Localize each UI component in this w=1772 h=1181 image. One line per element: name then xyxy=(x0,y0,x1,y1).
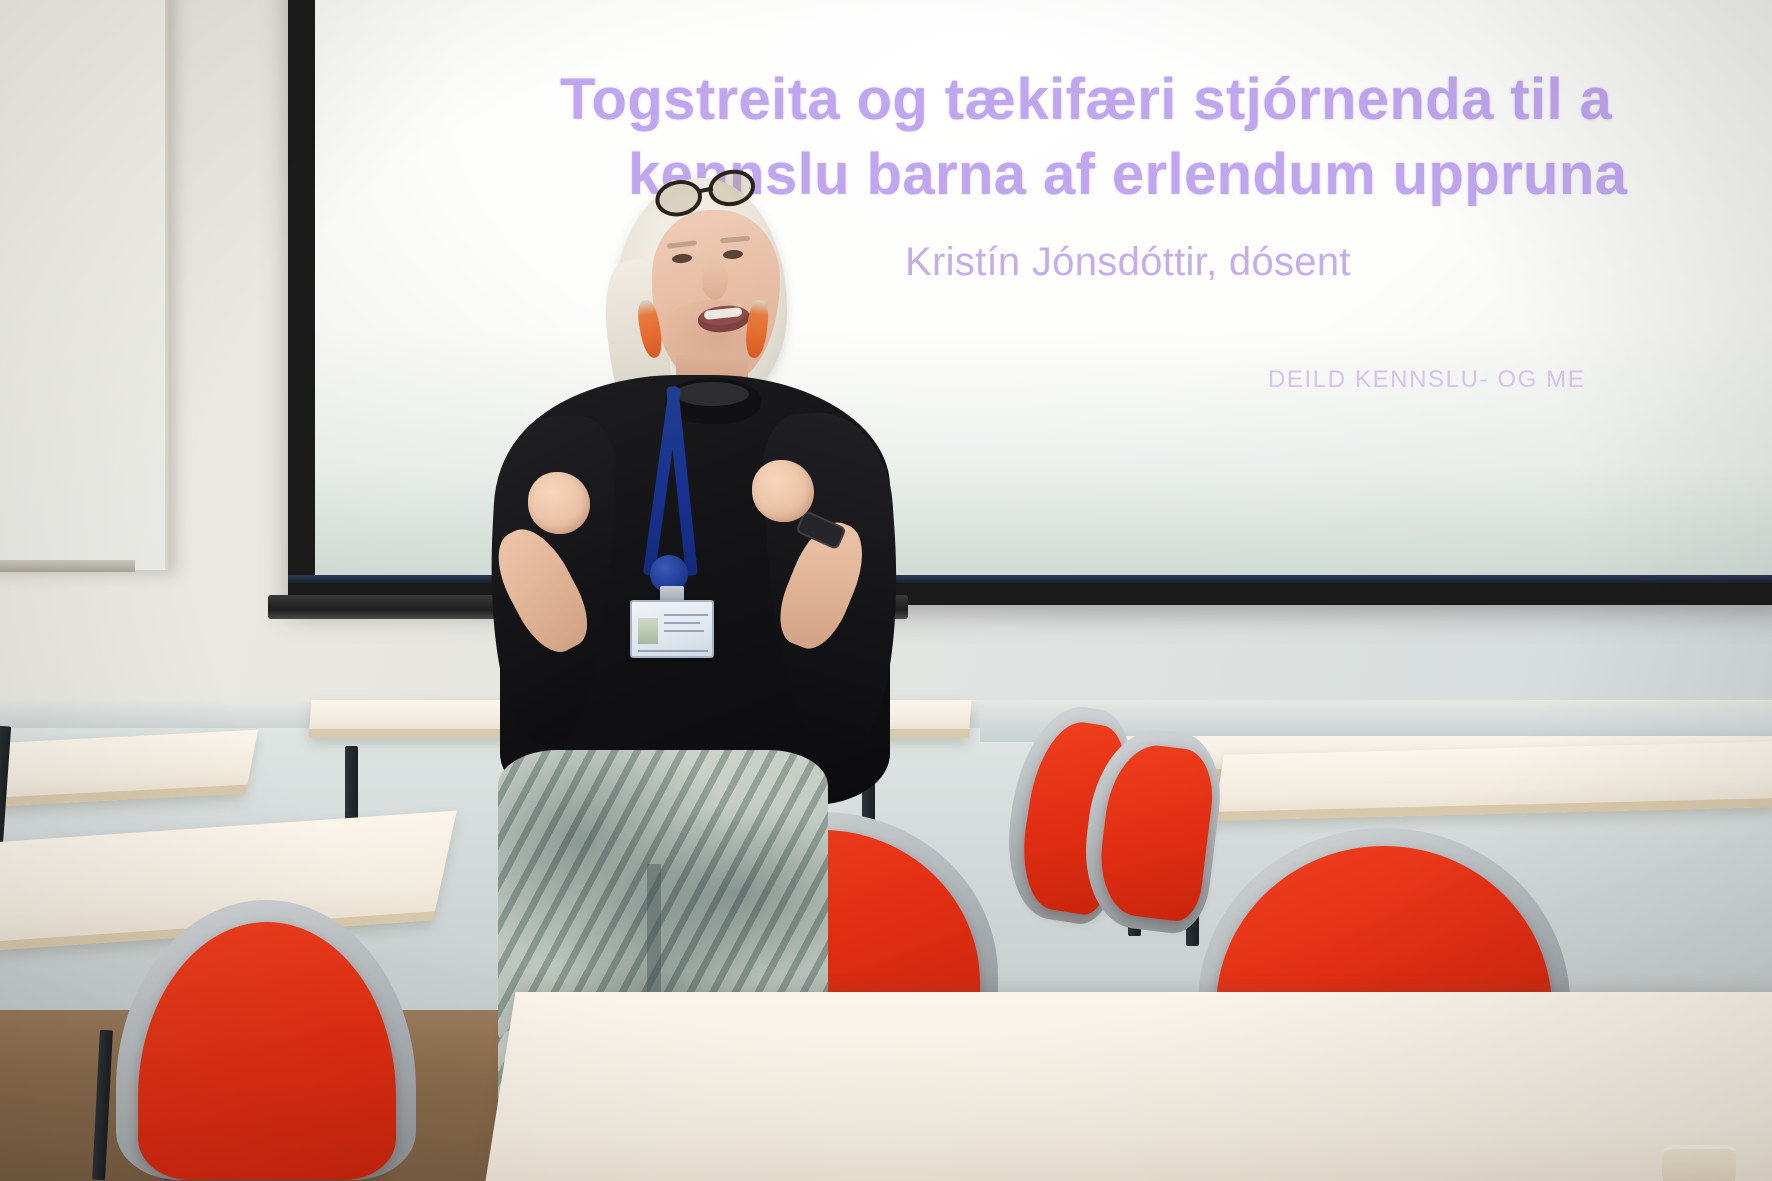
whiteboard-tray xyxy=(0,560,135,572)
badge-text-line xyxy=(664,614,708,616)
badge-photo xyxy=(638,618,658,644)
badge-text-line xyxy=(664,622,700,624)
id-badge xyxy=(630,600,714,658)
whiteboard xyxy=(0,0,170,570)
slide-subtitle-presenter: Kristín Jónsdóttir, dósent xyxy=(905,240,1351,285)
lens-left xyxy=(652,176,705,220)
badge-text-line xyxy=(664,630,704,632)
slide-department-label: DEILD KENNSLU- OG ME xyxy=(1268,366,1585,394)
speaker xyxy=(470,150,910,1030)
hand-right-fist xyxy=(752,460,814,522)
nose xyxy=(702,262,728,300)
badge-text-line xyxy=(638,650,708,652)
hand-left-fist xyxy=(528,472,590,534)
table-foreground-center xyxy=(485,992,1772,1181)
classroom-photo: Togstreita og tækifæri stjórnenda til a … xyxy=(0,0,1772,1181)
paper-cup[interactable] xyxy=(1662,1145,1736,1181)
slide-title-line-1: Togstreita og tækifæri stjórnenda til a xyxy=(560,67,1612,132)
table-mid-right xyxy=(1214,741,1772,821)
inner-shirt xyxy=(675,382,749,406)
lens-right xyxy=(705,166,758,210)
